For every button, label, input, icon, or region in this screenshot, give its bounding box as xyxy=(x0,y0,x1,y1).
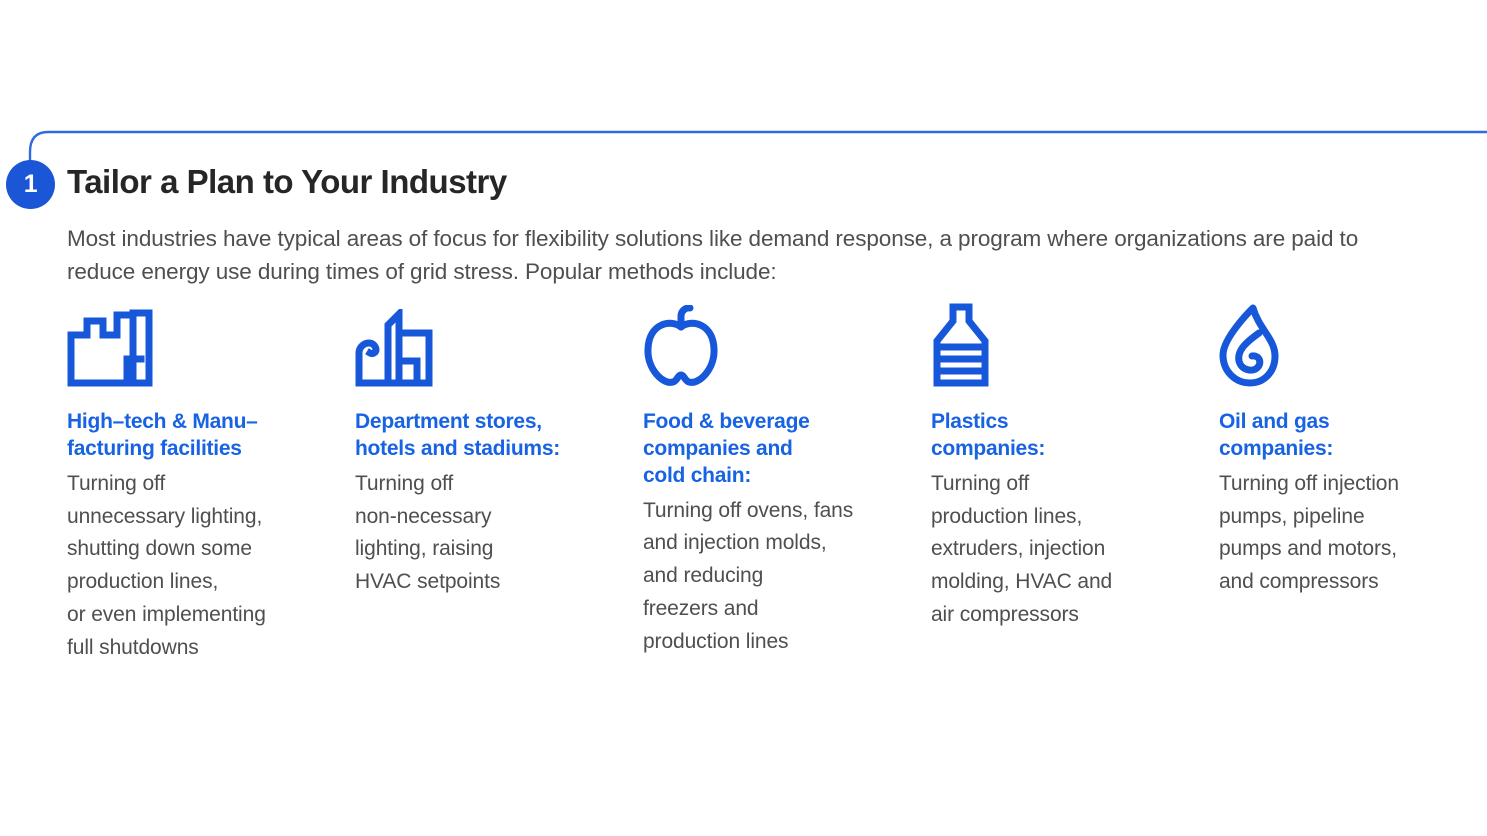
industry-title: Oil and gas companies: xyxy=(1219,409,1479,463)
industry-title: Food & beverage companies and cold chain… xyxy=(643,409,909,490)
industry-column-food-beverage: Food & beverage companies and cold chain… xyxy=(643,305,931,664)
infographic-slide: 1 Tailor a Plan to Your Industry Most in… xyxy=(0,0,1487,836)
step-number-label: 1 xyxy=(24,172,37,197)
industry-column-department-stores: Department stores, hotels and stadiums: … xyxy=(355,305,643,664)
industry-columns: High–tech & Manu– facturing facilities T… xyxy=(67,305,1479,664)
industry-description: Turning off injection pumps, pipeline pu… xyxy=(1219,468,1479,599)
step-number-badge: 1 xyxy=(6,160,55,209)
industry-column-oil-and-gas: Oil and gas companies: Turning off injec… xyxy=(1219,305,1479,664)
industry-column-high-tech-manufacturing: High–tech & Manu– facturing facilities T… xyxy=(67,305,355,664)
industry-title: Department stores, hotels and stadiums: xyxy=(355,409,621,463)
industry-title: High–tech & Manu– facturing facilities xyxy=(67,409,333,463)
apple-icon xyxy=(643,305,909,387)
industry-title: Plastics companies: xyxy=(931,409,1197,463)
plastic-bottle-icon xyxy=(931,305,1197,387)
city-buildings-icon xyxy=(355,305,621,387)
flame-drop-icon xyxy=(1219,305,1479,387)
page-title: Tailor a Plan to Your Industry xyxy=(67,163,507,202)
industry-description: Turning off production lines, extruders,… xyxy=(931,468,1197,632)
industry-description: Turning off non-necessary lighting, rais… xyxy=(355,468,621,599)
intro-paragraph: Most industries have typical areas of fo… xyxy=(67,223,1397,289)
industry-description: Turning off ovens, fans and injection mo… xyxy=(643,495,909,659)
industry-description: Turning off unnecessary lighting, shutti… xyxy=(67,468,333,665)
factory-icon xyxy=(67,305,333,387)
industry-column-plastics: Plastics companies: Turning off producti… xyxy=(931,305,1219,664)
